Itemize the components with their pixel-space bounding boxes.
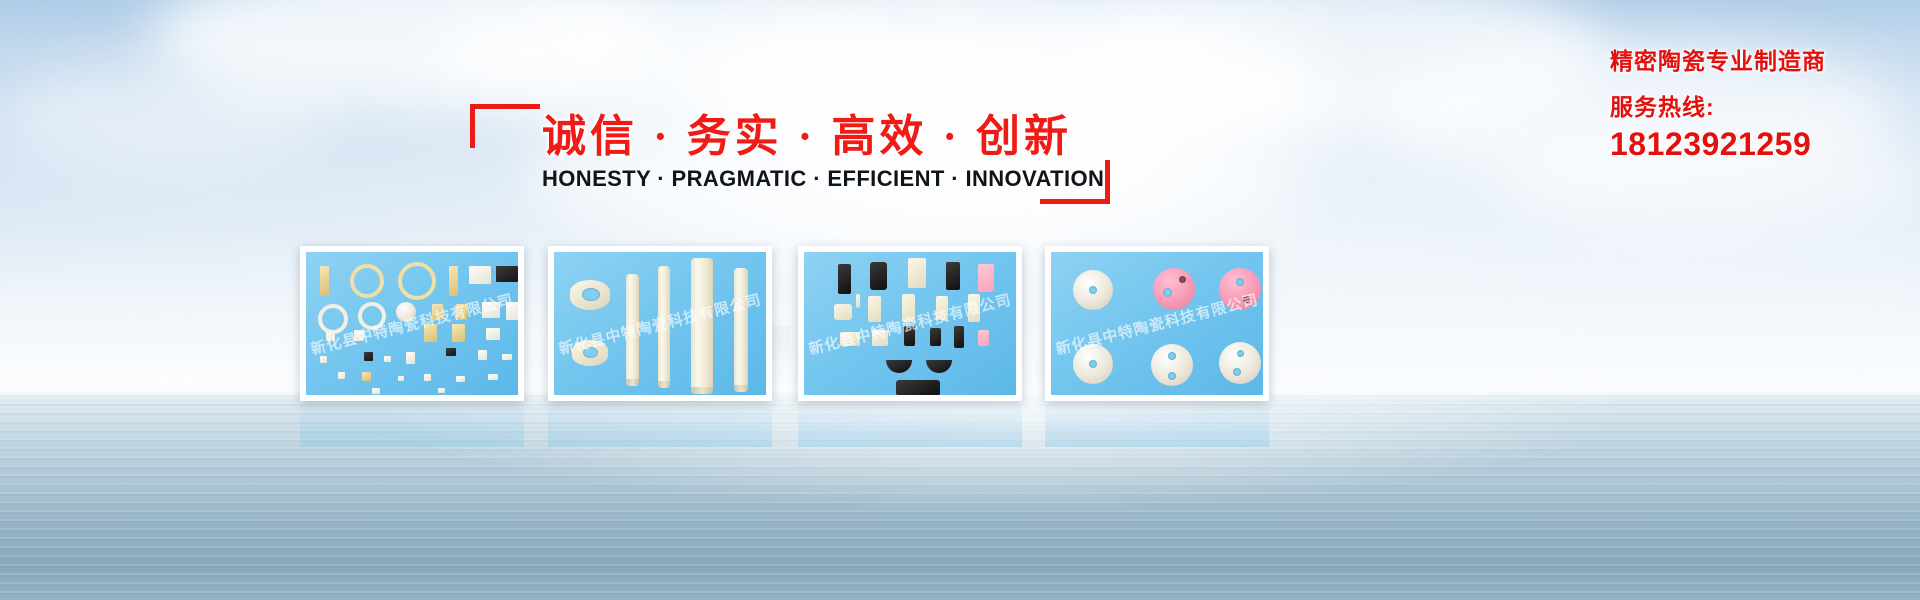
bracket-bottom-right-vertical	[1105, 160, 1110, 204]
product-image: 新化县中特陶瓷科技有限公司	[554, 252, 766, 395]
water-surface	[0, 388, 1920, 600]
product-panel-ceramic-discs[interactable]: 新化县中特陶瓷科技有限公司	[1045, 246, 1269, 401]
water-sheen	[0, 388, 1920, 600]
product-panel-ceramic-tubes[interactable]: 新化县中特陶瓷科技有限公司	[548, 246, 772, 401]
product-panel-ceramic-blocks[interactable]: 新化县中特陶瓷科技有限公司	[798, 246, 1022, 401]
hotline-phone-number[interactable]: 18123921259	[1610, 126, 1870, 163]
manufacturer-tagline: 精密陶瓷专业制造商	[1610, 48, 1870, 76]
cloud	[0, 60, 330, 170]
product-image: 新化县中特陶瓷科技有限公司	[804, 252, 1016, 395]
slogan-english: HONESTY · PRAGMATIC · EFFICIENT · INNOVA…	[542, 166, 1042, 192]
slogan-chinese: 诚信 · 务实 · 高效 · 创新	[542, 100, 1042, 164]
bracket-top-left-vertical	[470, 104, 475, 148]
bracket-top-left-horizontal	[470, 104, 540, 109]
hero-banner: 诚信 · 务实 · 高效 · 创新 HONESTY · PRAGMATIC · …	[0, 0, 1920, 600]
contact-block: 精密陶瓷专业制造商 服务热线: 18123921259	[1610, 48, 1870, 163]
bracket-bottom-right-horizontal	[1040, 199, 1110, 204]
slogan-block: 诚信 · 务实 · 高效 · 创新 HONESTY · PRAGMATIC · …	[470, 104, 1110, 204]
product-image: 新化县中特陶瓷科技有限公司	[306, 252, 518, 395]
product-panel-smd-components[interactable]: 新化县中特陶瓷科技有限公司	[300, 246, 524, 401]
hotline-label: 服务热线:	[1610, 88, 1870, 122]
product-image: 新化县中特陶瓷科技有限公司	[1051, 252, 1263, 395]
